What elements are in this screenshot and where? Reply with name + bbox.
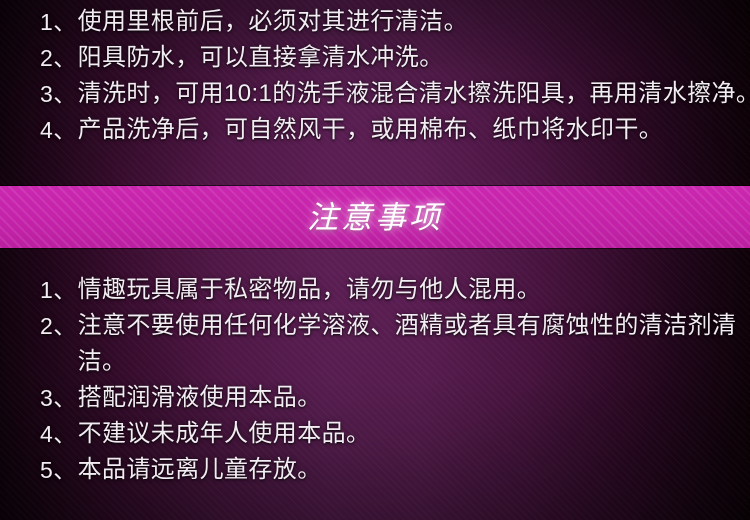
list-item: 1、 情趣玩具属于私密物品，请勿与他人混用。 — [40, 272, 742, 308]
section-banner-title: 注意事项 — [307, 202, 443, 233]
list-item-text: 情趣玩具属于私密物品，请勿与他人混用。 — [78, 272, 742, 308]
list-item-number: 1、 — [40, 272, 78, 308]
cleaning-instructions-list: 1、 使用里根前后，必须对其进行清洁。 2、 阳具防水，可以直接拿清水冲洗。 3… — [0, 4, 750, 148]
list-item-number: 4、 — [40, 112, 78, 148]
list-item-number: 3、 — [40, 380, 78, 416]
list-item-text: 注意不要使用任何化学溶液、酒精或者具有腐蚀性的清洁剂清洁。 — [78, 308, 742, 380]
list-item: 1、 使用里根前后，必须对其进行清洁。 — [40, 4, 742, 40]
section-banner-caution: 注意事项 — [0, 186, 750, 248]
list-item: 4、 产品洗净后，可自然风干，或用棉布、纸巾将水印干。 — [40, 112, 742, 148]
list-item: 2、 阳具防水，可以直接拿清水冲洗。 — [40, 40, 742, 76]
product-instructions-page: 1、 使用里根前后，必须对其进行清洁。 2、 阳具防水，可以直接拿清水冲洗。 3… — [0, 0, 750, 520]
list-item: 3、 清洗时，可用10:1的洗手液混合清水擦洗阳具，再用清水擦净。 — [40, 76, 742, 112]
caution-notes-list: 1、 情趣玩具属于私密物品，请勿与他人混用。 2、 注意不要使用任何化学溶液、酒… — [0, 272, 750, 488]
list-item: 2、 注意不要使用任何化学溶液、酒精或者具有腐蚀性的清洁剂清洁。 — [40, 308, 742, 380]
list-item-number: 2、 — [40, 308, 78, 344]
list-item-text: 清洗时，可用10:1的洗手液混合清水擦洗阳具，再用清水擦净。 — [78, 76, 742, 112]
list-item: 3、 搭配润滑液使用本品。 — [40, 380, 742, 416]
list-item-text: 使用里根前后，必须对其进行清洁。 — [78, 4, 742, 40]
list-item-text: 不建议未成年人使用本品。 — [78, 416, 742, 452]
list-item-number: 2、 — [40, 40, 78, 76]
list-item-number: 5、 — [40, 452, 78, 488]
list-item-number: 1、 — [40, 4, 78, 40]
list-item-text: 本品请远离儿童存放。 — [78, 452, 742, 488]
list-item-text: 产品洗净后，可自然风干，或用棉布、纸巾将水印干。 — [78, 112, 742, 148]
list-item-text: 搭配润滑液使用本品。 — [78, 380, 742, 416]
list-item-text: 阳具防水，可以直接拿清水冲洗。 — [78, 40, 742, 76]
list-item-number: 3、 — [40, 76, 78, 112]
list-item: 4、 不建议未成年人使用本品。 — [40, 416, 742, 452]
list-item: 5、 本品请远离儿童存放。 — [40, 452, 742, 488]
list-item-number: 4、 — [40, 416, 78, 452]
